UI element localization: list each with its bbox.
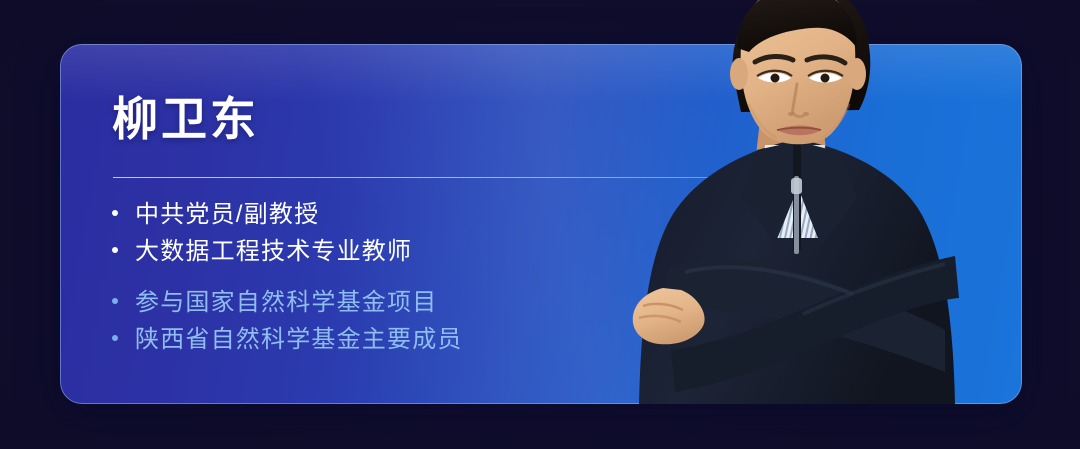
credential-label: 中共党员/副教授 bbox=[135, 201, 319, 229]
list-item: 参与国家自然科学基金项目 bbox=[112, 289, 463, 317]
credentials-secondary-list: 参与国家自然科学基金项目 陕西省自然科学基金主要成员 bbox=[112, 289, 463, 364]
list-item: 陕西省自然科学基金主要成员 bbox=[112, 326, 463, 354]
profile-card: 柳卫东 中共党员/副教授 大数据工程技术专业教师 参与国家自然科学基金项目 bbox=[60, 44, 1022, 404]
list-item: 中共党员/副教授 bbox=[112, 201, 412, 229]
credentials-primary-list: 中共党员/副教授 大数据工程技术专业教师 bbox=[112, 201, 412, 276]
credential-label: 参与国家自然科学基金项目 bbox=[135, 289, 437, 317]
page-title: 柳卫东 bbox=[112, 96, 259, 142]
bullet-dot-icon bbox=[112, 247, 118, 253]
credential-label: 大数据工程技术专业教师 bbox=[135, 238, 412, 266]
bullet-dot-icon bbox=[112, 210, 118, 216]
profile-banner: 柳卫东 中共党员/副教授 大数据工程技术专业教师 参与国家自然科学基金项目 bbox=[0, 0, 1080, 449]
profile-text-block: 柳卫东 中共党员/副教授 大数据工程技术专业教师 参与国家自然科学基金项目 bbox=[112, 44, 732, 404]
bullet-dot-icon bbox=[112, 298, 118, 304]
list-item: 大数据工程技术专业教师 bbox=[112, 238, 412, 266]
bullet-dot-icon bbox=[112, 335, 118, 341]
credential-label: 陕西省自然科学基金主要成员 bbox=[135, 326, 463, 354]
title-divider bbox=[113, 177, 713, 178]
